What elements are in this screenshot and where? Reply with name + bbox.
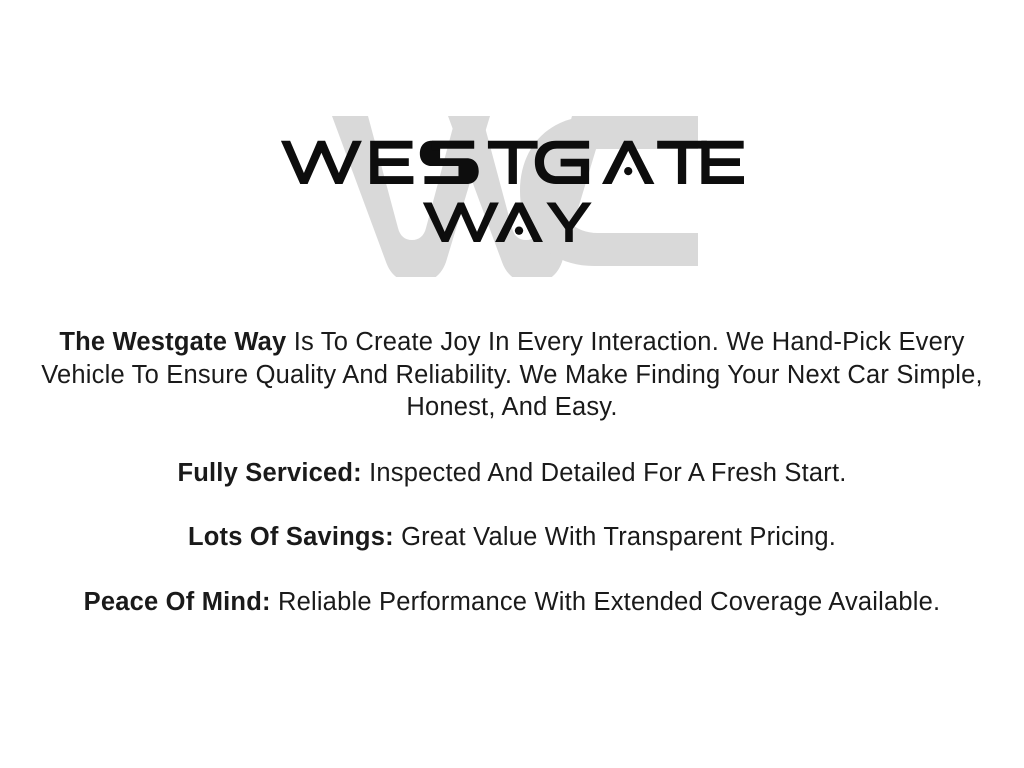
- benefit-fully-serviced: Fully Serviced: Inspected And Detailed F…: [0, 457, 1024, 490]
- intro-lead: The Westgate Way: [59, 328, 286, 356]
- wordmark-westgate: [280, 138, 745, 184]
- wordmark-way: [422, 200, 603, 242]
- intro-paragraph: The Westgate Way Is To Create Joy In Eve…: [0, 326, 1024, 424]
- benefit-text: Great Value With Transparent Pricing.: [394, 523, 836, 551]
- brand-logo-block: [0, 100, 1024, 290]
- spacer: [0, 424, 1024, 457]
- benefit-label: Lots Of Savings:: [188, 523, 394, 551]
- body-copy: The Westgate Way Is To Create Joy In Eve…: [0, 326, 1024, 618]
- benefit-label: Peace Of Mind:: [84, 588, 271, 616]
- benefit-text: Inspected And Detailed For A Fresh Start…: [362, 459, 847, 487]
- benefit-lots-of-savings: Lots Of Savings: Great Value With Transp…: [0, 521, 1024, 554]
- spacer: [0, 554, 1024, 586]
- benefit-text: Reliable Performance With Extended Cover…: [271, 588, 941, 616]
- spacer: [0, 489, 1024, 521]
- promo-slide: The Westgate Way Is To Create Joy In Eve…: [0, 0, 1024, 768]
- benefit-peace-of-mind: Peace Of Mind: Reliable Performance With…: [0, 586, 1024, 619]
- brand-wordmark-lockup: [0, 100, 1024, 290]
- benefit-label: Fully Serviced:: [177, 459, 361, 487]
